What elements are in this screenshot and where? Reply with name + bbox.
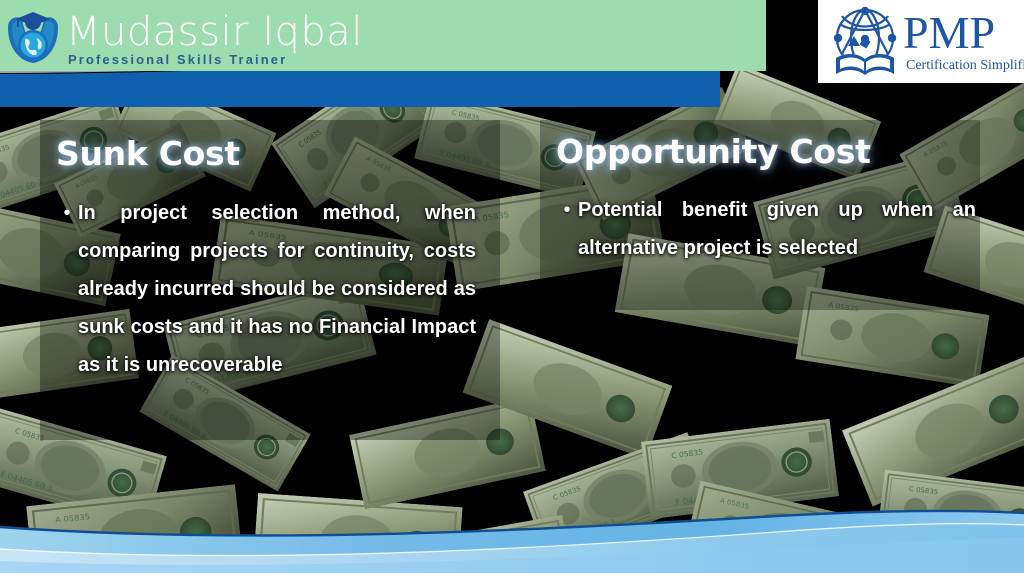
brand-banner: Mudassir Iqbal Professional Skills Train… — [0, 0, 766, 71]
list-item: • Potential benefit given up when an alt… — [556, 191, 976, 267]
pmp-wordmark: PMP — [903, 8, 995, 58]
column-title: Opportunity Cost — [556, 132, 976, 172]
brand-tagline: Professional Skills Trainer — [68, 52, 287, 67]
slide: C 05835 F 04405 60 3 A 05835 — [0, 0, 1024, 573]
bullet-icon: • — [556, 191, 578, 267]
bullet-text: Potential benefit given up when an alter… — [578, 191, 976, 267]
footer-blue-wave — [0, 503, 1024, 573]
bullet-text: In project selection method, when compar… — [78, 194, 476, 384]
brand-name: Mudassir Iqbal — [66, 8, 363, 56]
column-title: Sunk Cost — [56, 134, 476, 174]
list-item: • In project selection method, when comp… — [56, 194, 476, 384]
pmp-logo: PMP Certification Simplified — [818, 0, 1024, 83]
column-sunk-cost: Sunk Cost • In project selection method,… — [56, 134, 476, 384]
column-opportunity-cost: Opportunity Cost • Potential benefit giv… — [556, 132, 976, 267]
bullet-icon: • — [56, 194, 78, 384]
pmp-tagline: Certification Simplified — [906, 58, 1024, 74]
graduation-cap-globe-icon — [4, 5, 62, 67]
network-globe-book-icon — [830, 6, 900, 78]
